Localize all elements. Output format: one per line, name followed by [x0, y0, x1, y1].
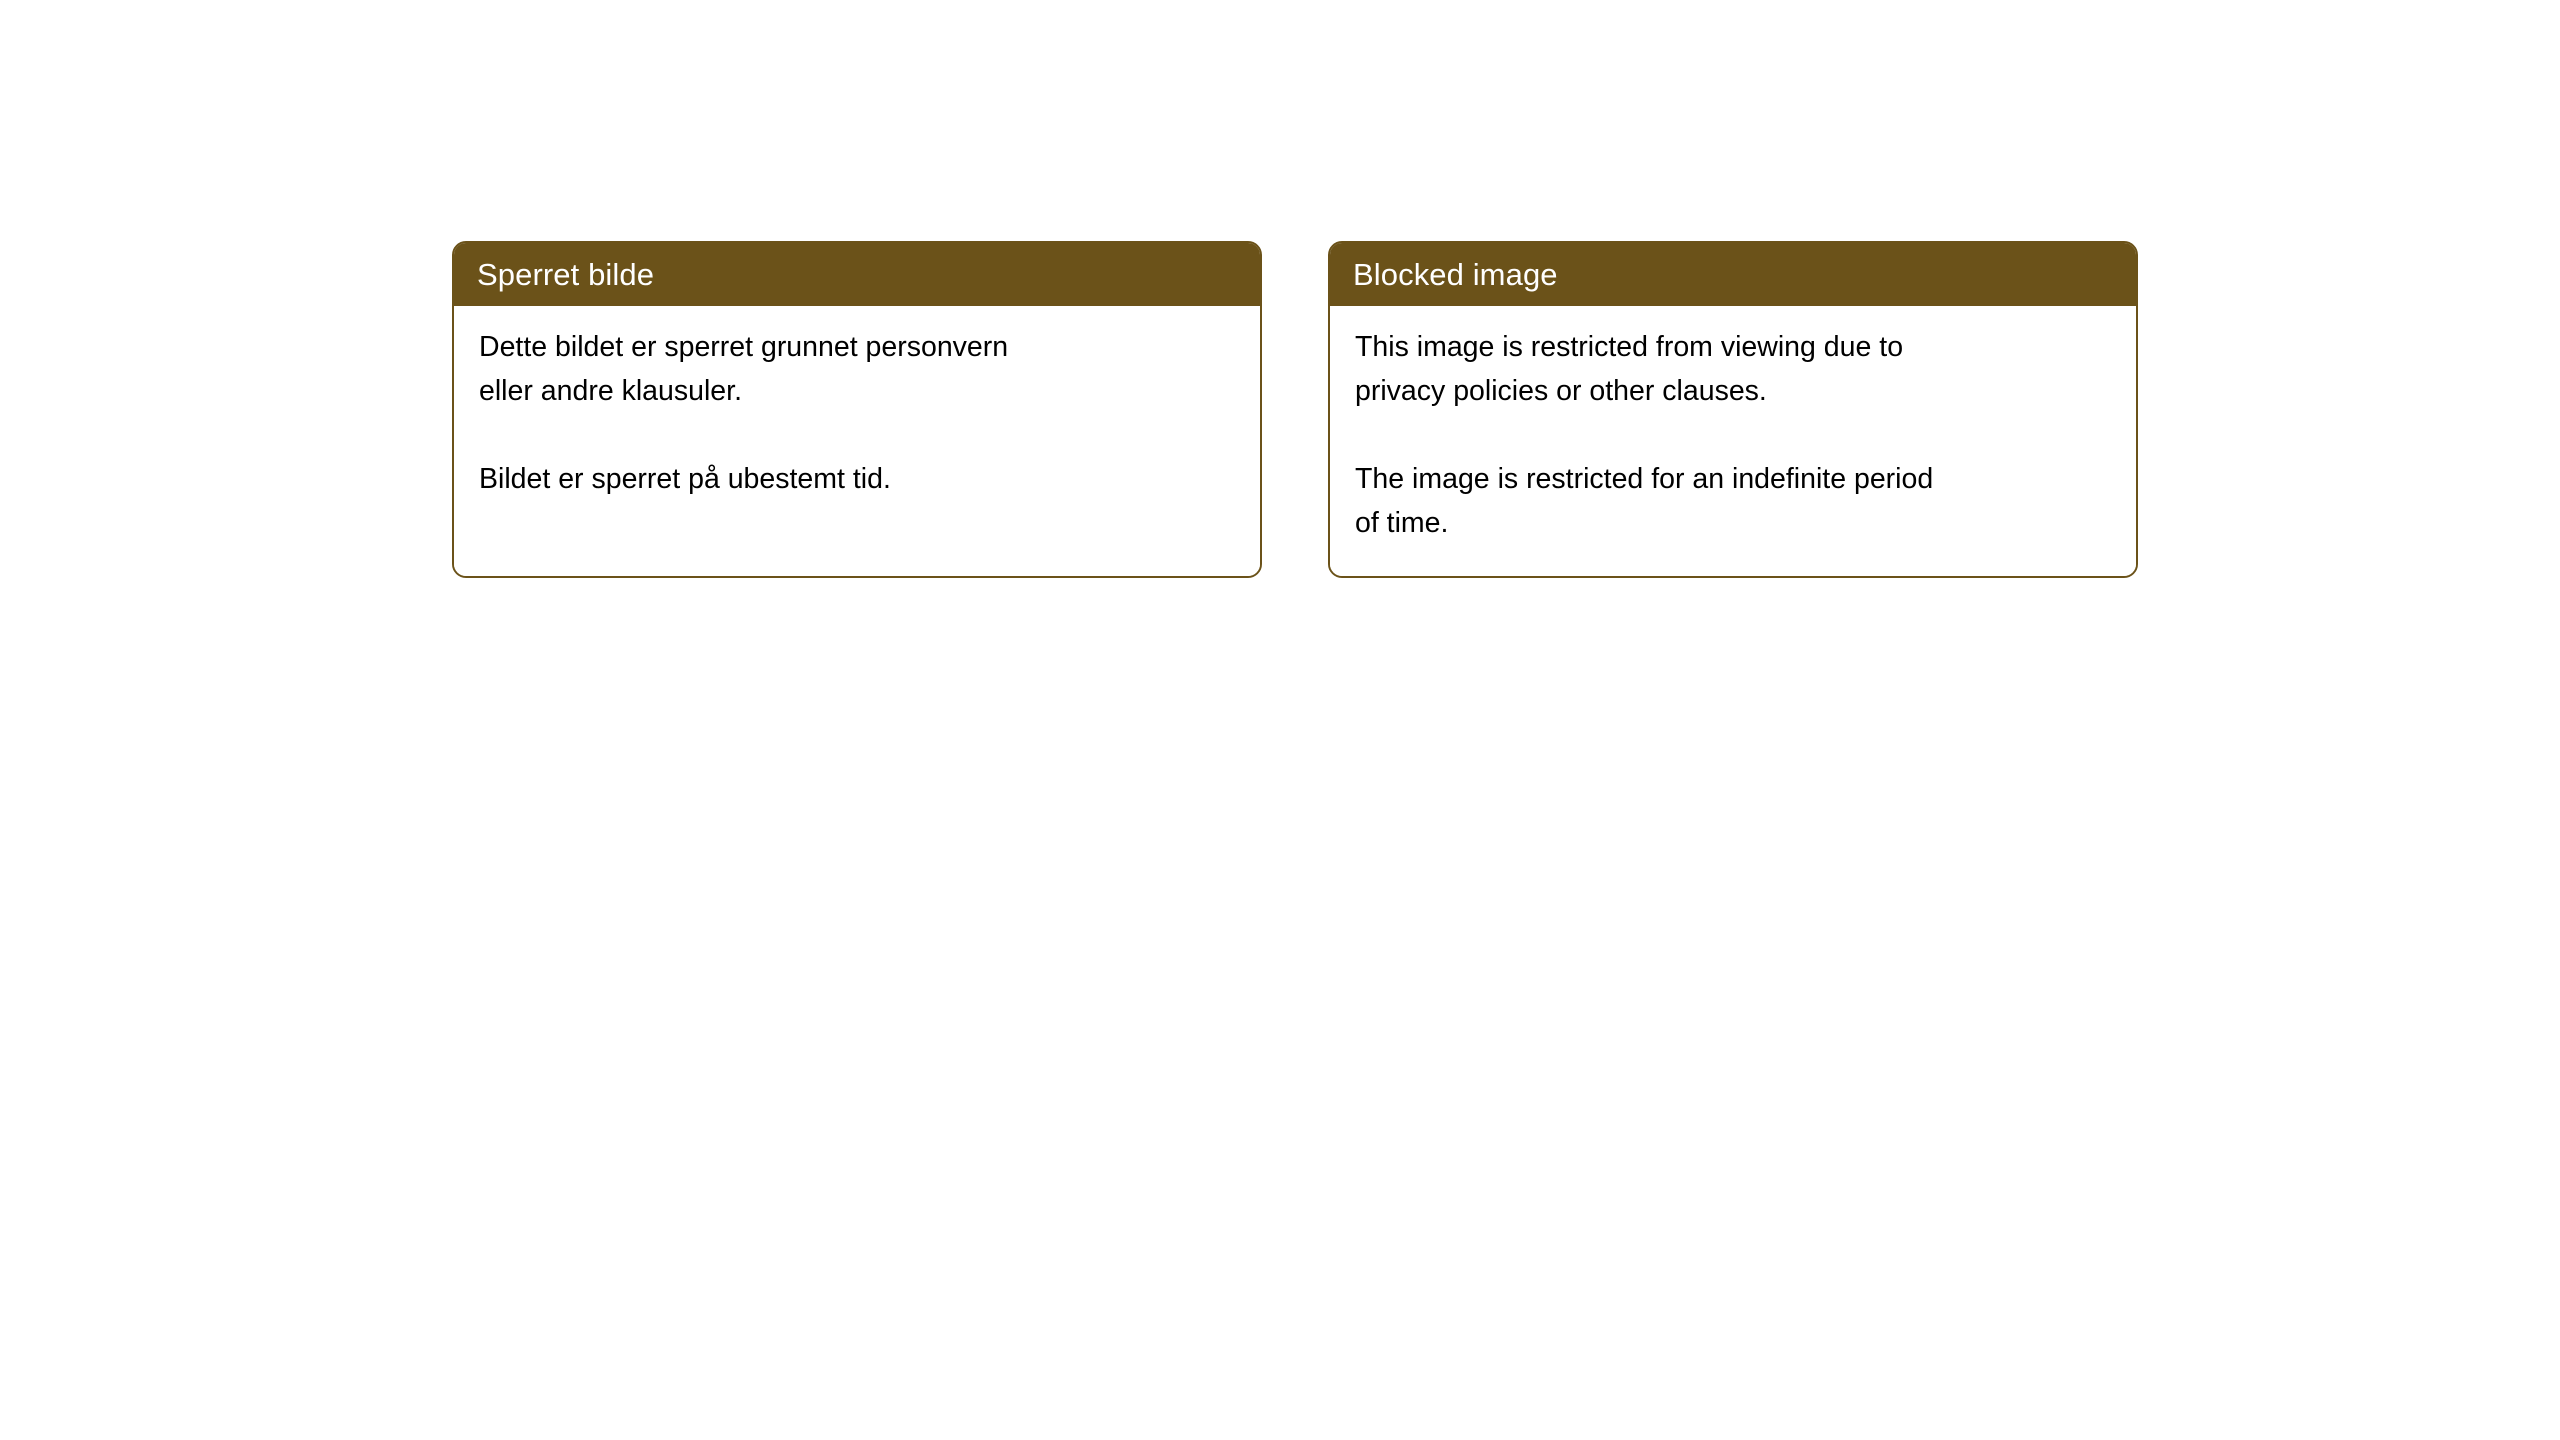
paragraph-spacer [479, 413, 1240, 457]
panel-header-norwegian: Sperret bilde [454, 243, 1260, 306]
blocked-image-notice-panel-english: Blocked image This image is restricted f… [1328, 241, 2138, 578]
panel-header-english: Blocked image [1330, 243, 2136, 306]
page-canvas: Sperret bilde Dette bildet er sperret gr… [0, 0, 2560, 1440]
paragraph-spacer [1355, 413, 2116, 457]
panel-body-norwegian: Dette bildet er sperret grunnet personve… [454, 306, 1260, 576]
panel-paragraph-secondary-norwegian: Bildet er sperret på ubestemt tid. [479, 457, 1239, 501]
panel-body-english: This image is restricted from viewing du… [1330, 306, 2136, 576]
panel-title-norwegian: Sperret bilde [477, 258, 654, 292]
panel-paragraph-primary-english: This image is restricted from viewing du… [1355, 325, 2115, 413]
panel-title-english: Blocked image [1353, 258, 1558, 292]
panel-paragraph-secondary-english: The image is restricted for an indefinit… [1355, 457, 2115, 545]
blocked-image-notice-panel-norwegian: Sperret bilde Dette bildet er sperret gr… [452, 241, 1262, 578]
panel-paragraph-primary-norwegian: Dette bildet er sperret grunnet personve… [479, 325, 1239, 413]
